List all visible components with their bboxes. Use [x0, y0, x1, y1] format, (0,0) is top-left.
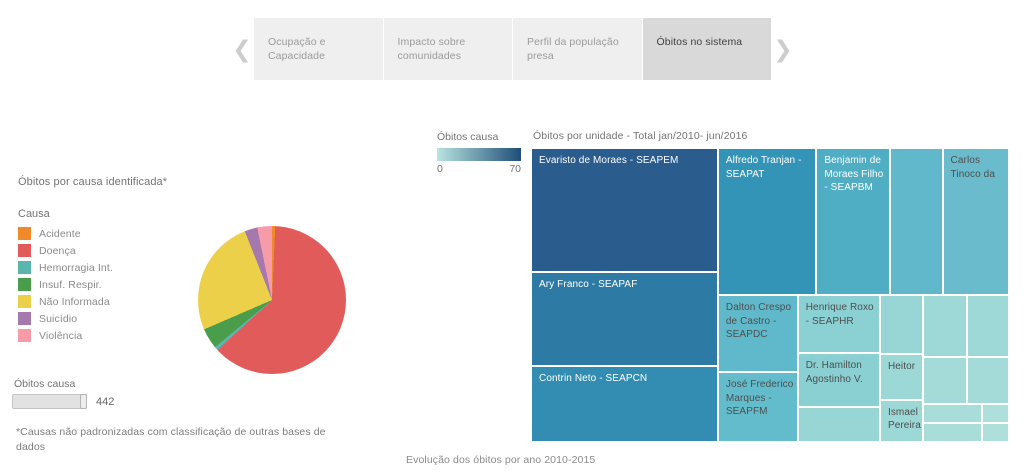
cause-pie-chart: [196, 221, 348, 379]
color-scale-title: Óbitos causa: [437, 131, 521, 143]
treemap-cell-label: Alfredo Tranjan - SEAPAT: [726, 154, 812, 181]
treemap-cell[interactable]: [923, 404, 982, 423]
legend-item[interactable]: Acidente: [18, 225, 113, 242]
slider-track[interactable]: [12, 394, 87, 409]
color-scale-min: 0: [437, 163, 443, 175]
treemap-cell[interactable]: Ismael Pereira: [880, 400, 923, 442]
tab-strip: ❮ Ocupação e CapacidadeImpacto sobre com…: [230, 18, 795, 80]
treemap-cell[interactable]: Heitor: [880, 354, 923, 400]
treemap-cell-label: Evaristo de Moraes - SEAPEM: [539, 154, 714, 168]
tab-4[interactable]: Óbitos no sistema: [643, 18, 772, 80]
legend-item[interactable]: Doença: [18, 242, 113, 259]
legend-color-swatch: [18, 312, 31, 325]
treemap-cell[interactable]: Alfredo Tranjan - SEAPAT: [718, 148, 816, 295]
treemap-cell[interactable]: [923, 423, 982, 442]
treemap-cell[interactable]: Benjamin de Moraes Filho - SEAPBM: [816, 148, 890, 295]
tab-2[interactable]: Impacto sobre comunidades: [384, 18, 513, 80]
treemap-title: Óbitos por unidade - Total jan/2010- jun…: [533, 130, 747, 142]
legend-item-label: Violência: [39, 330, 82, 342]
treemap-cell[interactable]: Evaristo de Moraes - SEAPEM: [531, 148, 718, 272]
treemap-cell-label: Henrique Roxo - SEAPHR: [806, 301, 876, 328]
treemap-cell[interactable]: [890, 148, 942, 295]
legend-color-swatch: [18, 227, 31, 240]
treemap-cell-label: Dalton Crespo de Castro - SEAPDC: [726, 301, 794, 342]
legend-item[interactable]: Suicídio: [18, 310, 113, 327]
treemap-cell[interactable]: [923, 357, 967, 404]
cause-chart-title: Óbitos por causa identificada*: [18, 176, 167, 188]
evolution-chart-title: Evolução dos óbitos por ano 2010-2015: [406, 454, 595, 466]
pie-slices[interactable]: [198, 226, 346, 374]
treemap-cell[interactable]: Henrique Roxo - SEAPHR: [798, 295, 880, 353]
treemap-cell[interactable]: Ary Franco - SEAPAF: [531, 272, 718, 366]
treemap-cell-label: Ismael Pereira: [888, 406, 919, 433]
slider-label: Óbitos causa: [12, 378, 114, 390]
color-scale-legend: Óbitos causa 0 70: [437, 131, 521, 175]
legend-color-swatch: [18, 278, 31, 291]
treemap-cell[interactable]: Contrin Neto - SEAPCN: [531, 366, 718, 442]
treemap-cell[interactable]: [967, 357, 1009, 404]
treemap-cell[interactable]: [880, 295, 923, 354]
treemap-cell-label: Dr. Hamilton Agostinho V.: [806, 359, 876, 386]
cause-footnote: *Causas não padronizadas com classificaç…: [16, 425, 326, 455]
chevron-left-icon[interactable]: ❮: [230, 18, 254, 80]
color-scale-max: 70: [509, 163, 521, 175]
treemap-cell[interactable]: [967, 295, 1009, 357]
obitos-causa-slider[interactable]: Óbitos causa 442: [12, 378, 114, 409]
treemap-cell[interactable]: [982, 423, 1009, 442]
color-scale-bar: [437, 148, 521, 161]
treemap-cell[interactable]: José Frederico Marques - SEAPFM: [718, 372, 798, 442]
slider-handle[interactable]: [80, 394, 87, 409]
treemap-cell-label: José Frederico Marques - SEAPFM: [726, 378, 794, 419]
treemap-cell[interactable]: [798, 407, 880, 442]
chevron-right-icon[interactable]: ❯: [771, 18, 795, 80]
treemap-cell[interactable]: [982, 404, 1009, 423]
legend-item[interactable]: Insuf. Respir.: [18, 276, 113, 293]
slider-value: 442: [96, 396, 114, 408]
legend-item[interactable]: Violência: [18, 327, 113, 344]
legend-item[interactable]: Não Informada: [18, 293, 113, 310]
legend-item-label: Insuf. Respir.: [39, 279, 102, 291]
treemap-cell-label: Ary Franco - SEAPAF: [539, 278, 714, 292]
tab-1[interactable]: Ocupação e Capacidade: [254, 18, 383, 80]
treemap-cell-label: Benjamin de Moraes Filho - SEAPBM: [824, 154, 886, 195]
treemap-cell-label: Contrin Neto - SEAPCN: [539, 372, 714, 386]
legend-item-label: Suicídio: [39, 313, 77, 325]
treemap-cell-label: Carlos Tinoco da: [951, 154, 1005, 181]
legend-item-label: Não Informada: [39, 296, 110, 308]
legend-item[interactable]: Hemorragia Int.: [18, 259, 113, 276]
treemap-cell[interactable]: Carlos Tinoco da: [943, 148, 1009, 295]
treemap-cell-label: Heitor: [888, 360, 919, 374]
cause-legend-title: Causa: [18, 208, 113, 220]
tab-list: Ocupação e CapacidadeImpacto sobre comun…: [254, 18, 771, 80]
unit-treemap: Evaristo de Moraes - SEAPEMAry Franco - …: [531, 148, 1009, 442]
legend-color-swatch: [18, 295, 31, 308]
treemap-cell[interactable]: [923, 295, 967, 357]
legend-item-label: Acidente: [39, 228, 81, 240]
treemap-cell[interactable]: Dalton Crespo de Castro - SEAPDC: [718, 295, 798, 372]
treemap-cell[interactable]: Dr. Hamilton Agostinho V.: [798, 353, 880, 407]
tab-3[interactable]: Perfil da população presa: [513, 18, 642, 80]
legend-item-label: Hemorragia Int.: [39, 262, 113, 274]
cause-legend: Causa AcidenteDoençaHemorragia Int.Insuf…: [18, 208, 113, 344]
legend-color-swatch: [18, 244, 31, 257]
legend-color-swatch: [18, 329, 31, 342]
legend-item-label: Doença: [39, 245, 76, 257]
legend-color-swatch: [18, 261, 31, 274]
